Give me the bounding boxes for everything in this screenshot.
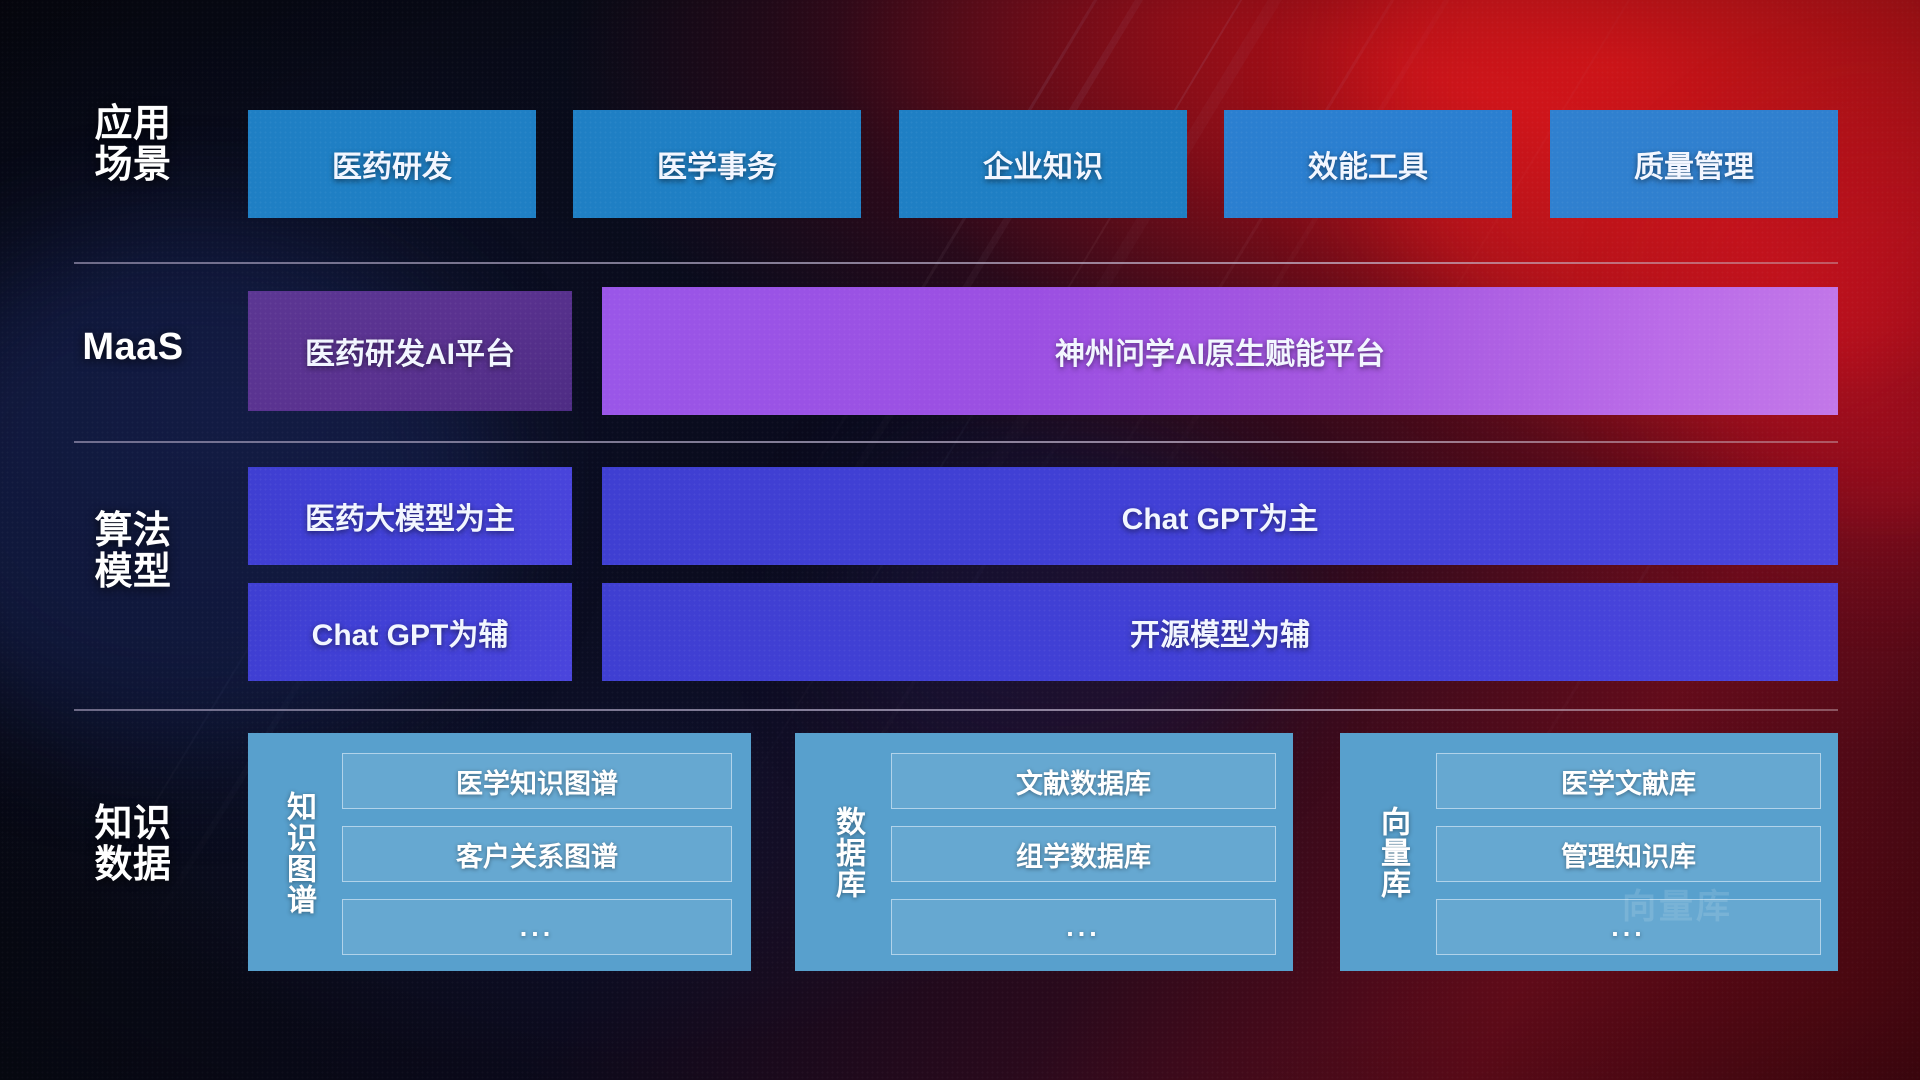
algorithm-left-box-1[interactable]: 医药大模型为主 <box>248 467 572 565</box>
algorithm-left-box-2[interactable]: Chat GPT为辅 <box>248 583 572 681</box>
knowledge-group-1-label: 知识图谱 <box>272 755 324 951</box>
knowledge-group-3: 向量库 向量库 医学文献库 管理知识库 ... <box>1340 733 1838 971</box>
row-label-knowledge: 知识 数据 <box>74 804 192 886</box>
knowledge-group-3-item-3[interactable]: ... <box>1436 899 1821 955</box>
architecture-diagram: 应用 场景 医药研发 医学事务 企业知识 效能工具 质量管理 MaaS 医药研发… <box>0 0 1920 1080</box>
knowledge-group-1: 知识图谱 医学知识图谱 客户关系图谱 ... <box>248 733 751 971</box>
app-scenario-box-5[interactable]: 质量管理 <box>1550 110 1838 218</box>
algorithm-right-box-1[interactable]: Chat GPT为主 <box>602 467 1838 565</box>
knowledge-group-2-item-2[interactable]: 组学数据库 <box>891 826 1276 882</box>
algorithm-right-box-2[interactable]: 开源模型为辅 <box>602 583 1838 681</box>
row-label-application: 应用 场景 <box>74 104 192 186</box>
row-divider-3 <box>74 709 1838 711</box>
row-label-algorithm: 算法 模型 <box>74 511 192 593</box>
knowledge-group-2-item-3[interactable]: ... <box>891 899 1276 955</box>
app-scenario-box-1[interactable]: 医药研发 <box>248 110 536 218</box>
row-label-maas: MaaS <box>74 327 192 368</box>
maas-platform-left-box[interactable]: 医药研发AI平台 <box>248 291 572 411</box>
knowledge-group-3-label: 向量库 <box>1366 773 1418 931</box>
knowledge-group-3-item-1[interactable]: 医学文献库 <box>1436 753 1821 809</box>
row-divider-1 <box>74 262 1838 264</box>
knowledge-group-3-item-2[interactable]: 管理知识库 <box>1436 826 1821 882</box>
knowledge-group-2-item-1[interactable]: 文献数据库 <box>891 753 1276 809</box>
knowledge-group-1-item-3[interactable]: ... <box>342 899 732 955</box>
knowledge-group-1-item-2[interactable]: 客户关系图谱 <box>342 826 732 882</box>
app-scenario-box-4[interactable]: 效能工具 <box>1224 110 1512 218</box>
maas-platform-right-box[interactable]: 神州问学AI原生赋能平台 <box>602 287 1838 415</box>
knowledge-group-2: 数据库 文献数据库 组学数据库 ... <box>795 733 1293 971</box>
knowledge-group-2-label: 数据库 <box>821 773 873 931</box>
knowledge-group-1-item-1[interactable]: 医学知识图谱 <box>342 753 732 809</box>
row-divider-2 <box>74 441 1838 443</box>
app-scenario-box-3[interactable]: 企业知识 <box>899 110 1187 218</box>
app-scenario-box-2[interactable]: 医学事务 <box>573 110 861 218</box>
